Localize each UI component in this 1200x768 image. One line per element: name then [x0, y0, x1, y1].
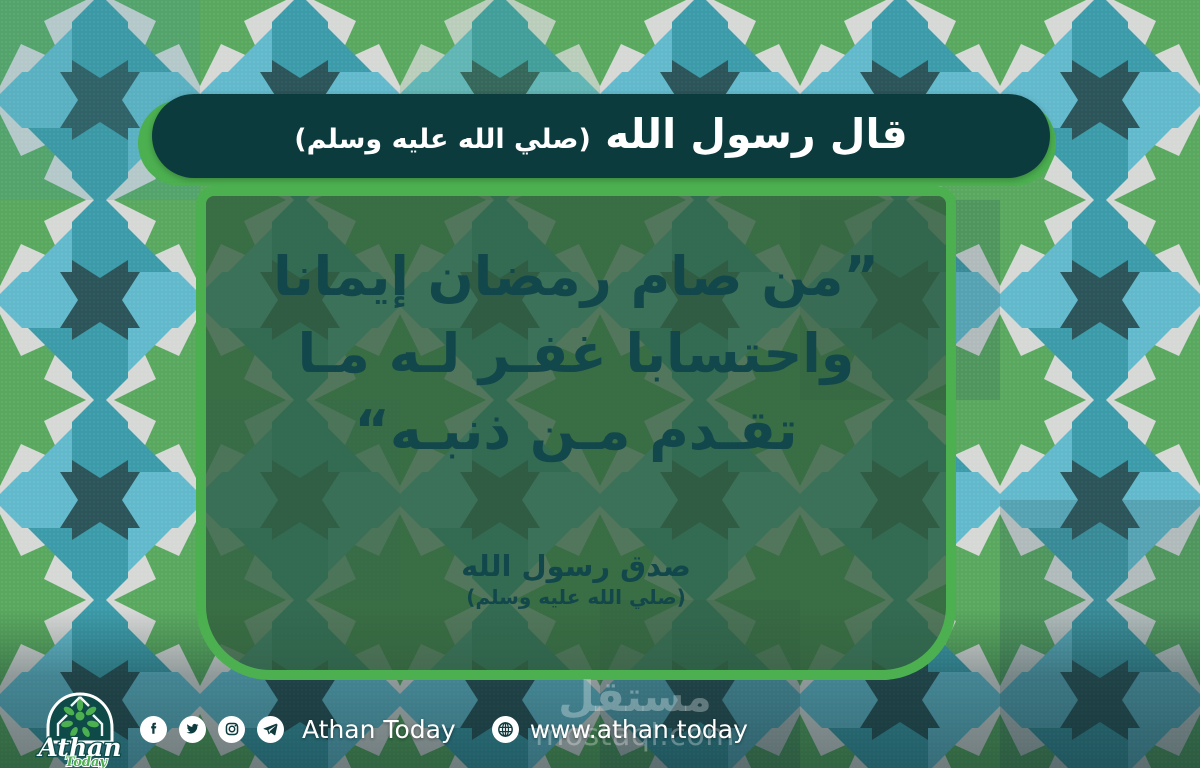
header-title-honorific: (صلي الله عليه وسلم) [294, 124, 591, 155]
website-url: www.athan.today [530, 715, 748, 744]
quote-attribution: صدق رسول الله (صلي الله عليه وسلم) [206, 548, 946, 610]
facebook-icon[interactable] [140, 716, 167, 743]
footer-bar: Athan Today [0, 690, 1200, 768]
instagram-icon[interactable] [218, 716, 245, 743]
logo-sub-text: Today [65, 755, 108, 768]
quote-line: تقـدم مـن ذنبـه“ [206, 392, 946, 469]
website-link[interactable]: www.athan.today [492, 715, 748, 744]
header-title: قال رسول الله (صلي الله عليه وسلم) [294, 114, 907, 159]
quote-line: واحتسابا غفـر لـه مـا [206, 315, 946, 392]
hadith-quote: ”من صام رمضان إيمانا واحتسابا غفـر لـه م… [206, 238, 946, 470]
telegram-icon[interactable] [257, 716, 284, 743]
brand-name: Athan Today [302, 715, 456, 744]
quote-card-body: ”من صام رمضان إيمانا واحتسابا غفـر لـه م… [196, 186, 956, 680]
quote-graphic: ”من صام رمضان إيمانا واحتسابا غفـر لـه م… [0, 0, 1200, 768]
social-links [140, 716, 284, 743]
header-title-main: قال رسول الله [605, 110, 908, 158]
quote-card: ”من صام رمضان إيمانا واحتسابا غفـر لـه م… [196, 186, 956, 680]
globe-icon[interactable] [492, 716, 519, 743]
attribution-honorific: (صلي الله عليه وسلم) [206, 584, 946, 610]
twitter-icon[interactable] [179, 716, 206, 743]
athan-today-logo[interactable]: Athan Today [34, 690, 126, 768]
attribution-main: صدق رسول الله [206, 548, 946, 584]
quote-line: ”من صام رمضان إيمانا [206, 238, 946, 315]
header-pill: قال رسول الله (صلي الله عليه وسلم) [152, 94, 1050, 178]
